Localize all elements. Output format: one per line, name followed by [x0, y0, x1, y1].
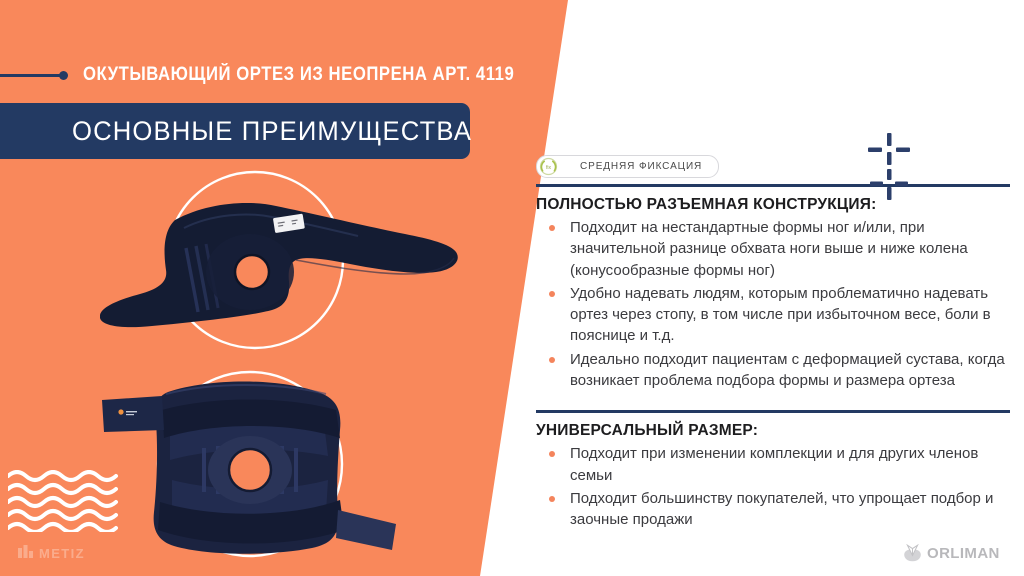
list-item: Подходит при изменении комплекции и для … [536, 443, 1010, 486]
kicker-line-decoration [0, 74, 60, 77]
orliman-logo: ORLIMAN [903, 544, 1000, 563]
metiz-watermark-label: METIZ [39, 546, 85, 561]
orliman-mark-icon [903, 544, 922, 563]
badge-row: fix СРЕДНЯЯ ФИКСАЦИЯ [536, 155, 1010, 177]
product-image-wrapped [100, 352, 400, 572]
fixation-gauge-icon: fix [539, 157, 558, 176]
kicker-row: ОКУТЫВАЮЩИЙ ОРТЕЗ ИЗ НЕОПРЕНА АРТ. 4119 [0, 62, 573, 88]
content-column: fix СРЕДНЯЯ ФИКСАЦИЯ ПОЛНОСТЬЮ РАЗЪЕМНАЯ… [536, 155, 1010, 533]
slide-root: METIZ ОКУТЫВАЮЩИЙ ОРТЕЗ ИЗ НЕОПРЕНА АРТ.… [0, 0, 1024, 576]
page-title: ОСНОВНЫЕ ПРЕИМУЩЕСТВА [72, 116, 472, 147]
section-divider-middle [536, 410, 1010, 413]
bullet-list-universal-size: Подходит при изменении комплекции и для … [536, 443, 1010, 530]
crosshair-marks-decoration [862, 133, 918, 201]
section-divider-top [536, 184, 1010, 187]
fixation-level-badge: fix СРЕДНЯЯ ФИКСАЦИЯ [536, 155, 719, 178]
orliman-logo-label: ORLIMAN [927, 545, 1000, 562]
list-item: Подходит большинству покупателей, что уп… [536, 488, 1010, 531]
list-item: Идеально подходит пациентам с деформацие… [536, 349, 1010, 392]
list-item: Подходит на нестандартные формы ног и/ил… [536, 217, 1010, 281]
section-title-universal-size: УНИВЕРСАЛЬНЫЙ РАЗМЕР: [536, 422, 1010, 440]
svg-text:fix: fix [546, 165, 552, 171]
page-title-bar: ОСНОВНЫЕ ПРЕИМУЩЕСТВА [0, 103, 470, 159]
section-title-construction: ПОЛНОСТЬЮ РАЗЪЕМНАЯ КОНСТРУКЦИЯ: [536, 196, 1010, 214]
kicker-dot-decoration [59, 71, 68, 80]
metiz-watermark: METIZ [18, 545, 85, 561]
product-image-flat [100, 160, 480, 360]
bullet-list-construction: Подходит на нестандартные формы ног и/ил… [536, 217, 1010, 391]
section-universal-size: УНИВЕРСАЛЬНЫЙ РАЗМЕР: Подходит при измен… [536, 410, 1010, 530]
kicker-text: ОКУТЫВАЮЩИЙ ОРТЕЗ ИЗ НЕОПРЕНА АРТ. 4119 [83, 64, 514, 86]
fixation-level-label: СРЕДНЯЯ ФИКСАЦИЯ [580, 161, 702, 172]
list-item: Удобно надевать людям, которым проблемат… [536, 283, 1010, 347]
